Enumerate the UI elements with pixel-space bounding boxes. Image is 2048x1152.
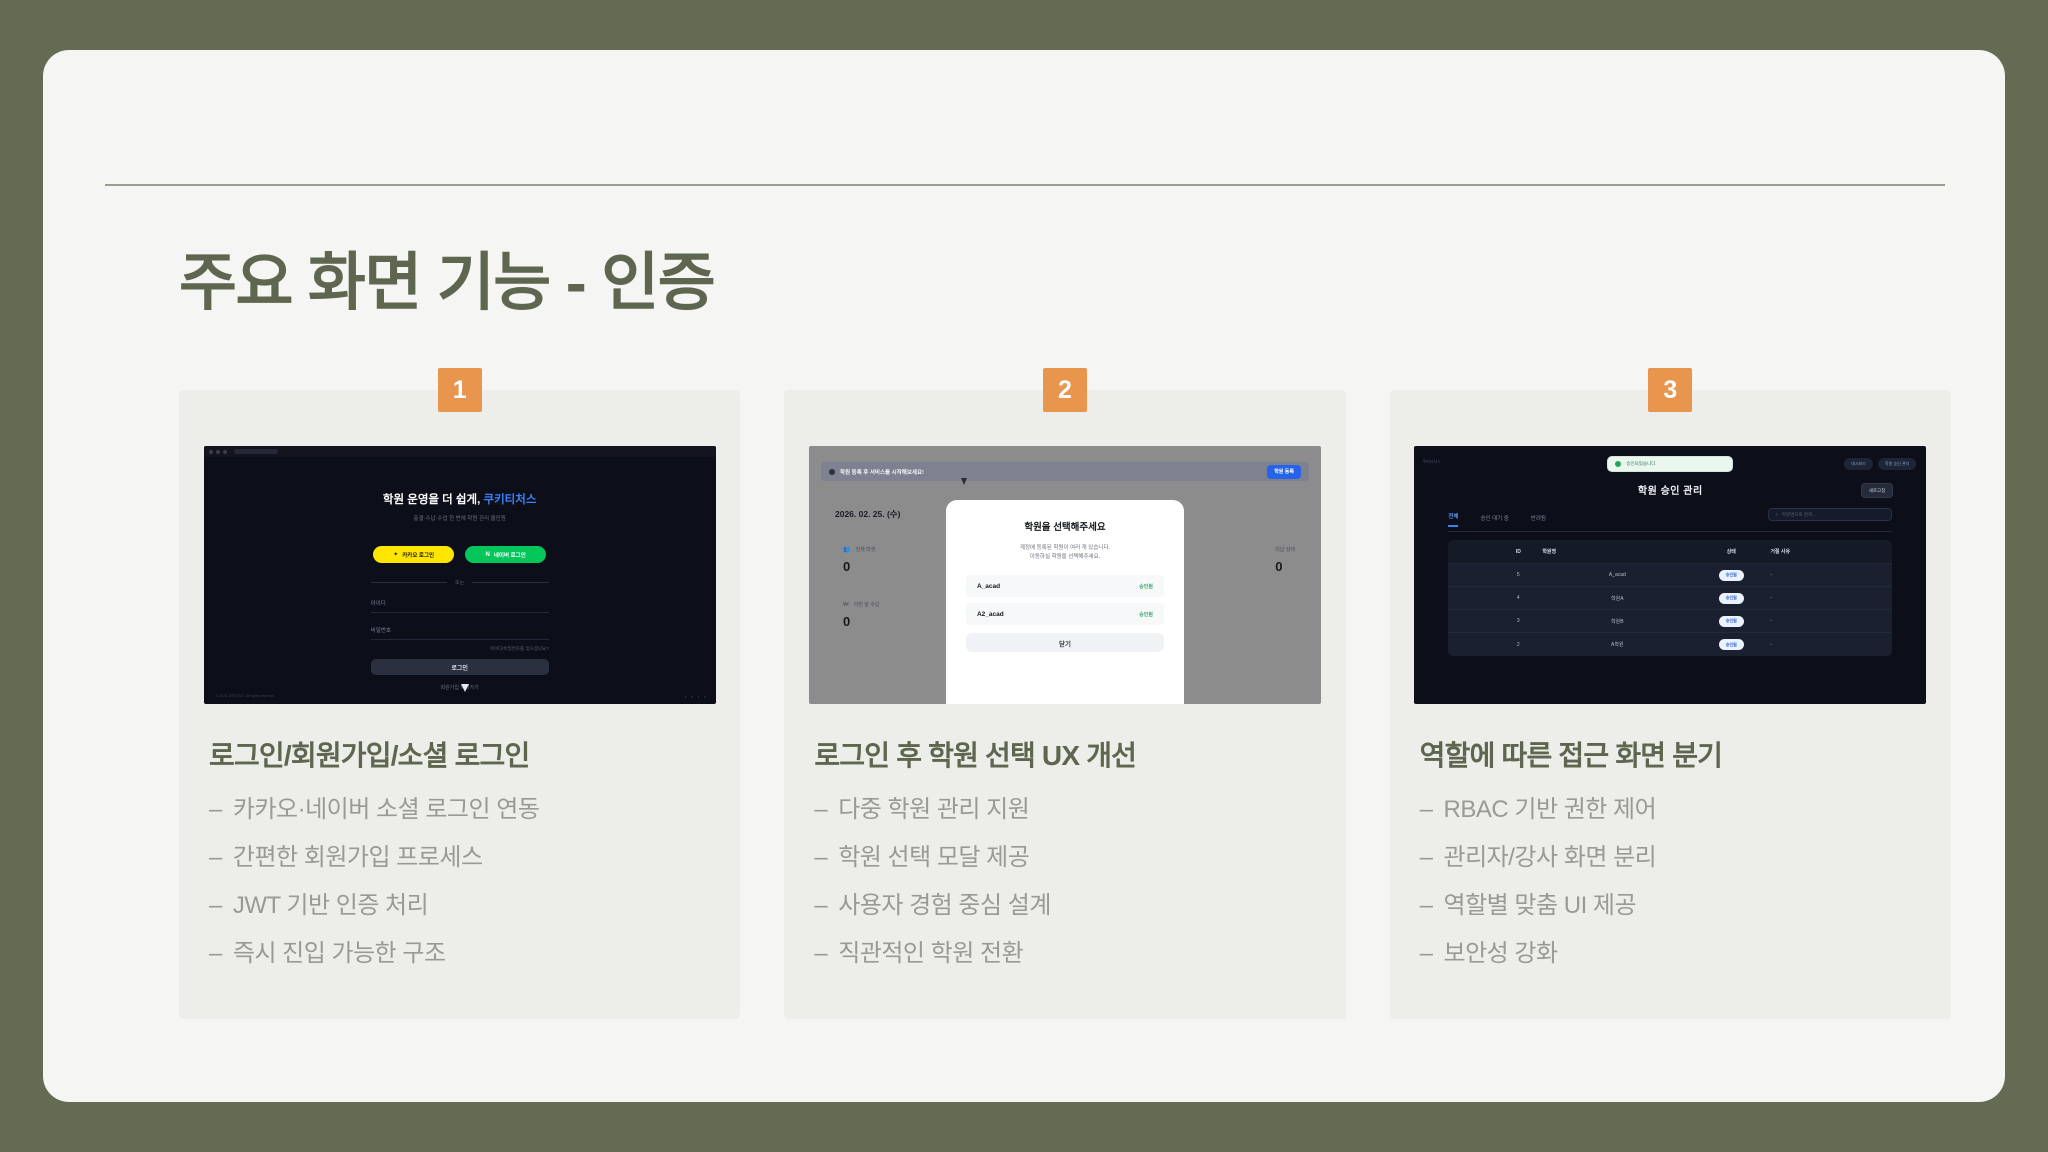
card-number-badge: 3 — [1648, 368, 1692, 412]
search-placeholder: 학원명으로 검색... — [1782, 512, 1816, 518]
column-header-id: ID — [1494, 549, 1542, 555]
screenshot-footer-icons: ▪ ▪ ▪ ▪ — [685, 694, 706, 699]
dash-icon: – — [1420, 937, 1433, 971]
naver-login-label: 네이버 로그인 — [494, 551, 526, 559]
list-item-label: 관리자/강사 화면 분리 — [1444, 841, 1657, 875]
card-title: 로그인/회원가입/소셜 로그인 — [209, 738, 710, 773]
cell-name: A학원 — [1542, 641, 1692, 648]
table-row[interactable]: 3 학원B 승인됨 - — [1448, 610, 1892, 633]
signup-link[interactable]: 회원가입 하러가기 — [441, 684, 479, 691]
login-heading: 학원 운영을 더 쉽게, 쿠키티처스 — [383, 491, 537, 507]
list-item-label: JWT 기반 인증 처리 — [233, 889, 428, 923]
register-academy-button[interactable]: 학원 등록 — [1267, 465, 1301, 479]
dashboard-date: 2026. 02. 25. (수) — [835, 508, 900, 520]
screenshot-footer: © 2026 쿠키티처스. All rights reserved. — [216, 694, 275, 699]
academy-name: A_acad — [977, 583, 1000, 590]
social-icon: ▪ — [698, 694, 699, 699]
find-password-link[interactable]: 아이디/비밀번호를 잊으셨나요? — [371, 646, 549, 652]
stat-label: 미납 상태 — [1275, 546, 1295, 553]
search-icon: ⌕ — [1775, 512, 1778, 517]
list-item: –사용자 경험 중심 설계 — [814, 889, 1315, 923]
table-row[interactable]: 4 학원A 승인됨 - — [1448, 587, 1892, 610]
stat-total-students: 👥 전체 학생 0 — [843, 546, 875, 574]
dash-icon: – — [1420, 793, 1433, 827]
register-academy-banner: 학원 등록 후 서비스를 시작해보세요! 학원 등록 — [821, 462, 1309, 481]
social-icon: ▪ — [704, 694, 705, 699]
modal-title: 학원을 선택해주세요 — [966, 519, 1164, 533]
list-item-label: 다중 학원 관리 지원 — [838, 793, 1029, 827]
stat-label: 이번 달 수납 — [854, 601, 880, 608]
address-bar — [234, 449, 278, 454]
brand-name: 쿠키티처스 — [484, 494, 537, 506]
top-nav: 대시보드 학원 승인 관리 — [1844, 458, 1916, 470]
page-title: 주요 화면 기능 - 인증 — [179, 232, 714, 323]
table-header-row: ID 학원명 상태 거절 사유 — [1448, 540, 1892, 564]
students-icon: 👥 — [843, 546, 850, 553]
cell-reason: - — [1770, 572, 1884, 578]
list-item-label: 학원 선택 모달 제공 — [838, 841, 1029, 875]
filter-tabs: 전체 승인 대기 중 반려됨 — [1448, 512, 1546, 527]
stat-value: 0 — [1275, 559, 1282, 574]
status-badge: 승인됨 — [1719, 570, 1744, 581]
kakao-icon: ✦ — [393, 552, 398, 558]
header-divider — [105, 184, 1945, 186]
stat-label-row: ₩ 이번 달 수납 — [843, 601, 879, 608]
modal-desc-line-2: 이동하실 학원을 선택해주세요. — [1030, 554, 1100, 560]
card-number-badge: 1 — [438, 368, 482, 412]
list-item: –학원 선택 모달 제공 — [814, 841, 1315, 875]
payment-icon: ₩ — [843, 602, 849, 608]
dash-icon: – — [209, 937, 222, 971]
academy-option[interactable]: A2_acad 승인됨 — [966, 603, 1164, 625]
cell-id: 2 — [1494, 642, 1542, 648]
mouse-cursor-icon — [461, 684, 469, 692]
status-badge: 승인됨 — [1719, 593, 1744, 604]
dash-icon: – — [209, 889, 222, 923]
dash-icon: – — [814, 889, 827, 923]
feature-card-row: 1 학원 운영을 더 쉽게, 쿠키티처스 출결·수납·수업 한 번에 학원 관리… — [179, 390, 1951, 1019]
card-bullet-list: –RBAC 기반 권한 제어 –관리자/강사 화면 분리 –역할별 맞춤 UI … — [1420, 793, 1921, 971]
list-item: –JWT 기반 인증 처리 — [209, 889, 710, 923]
cell-reason: - — [1770, 618, 1884, 624]
list-item: –관리자/강사 화면 분리 — [1420, 841, 1921, 875]
chrome-dot-icon — [209, 450, 213, 454]
login-heading-plain: 학원 운영을 더 쉽게, — [383, 494, 484, 506]
modal-description: 계정에 등록된 학원이 여러 개 있습니다. 이동하실 학원을 선택해주세요. — [966, 544, 1164, 562]
list-item: –카카오·네이버 소셜 로그인 연동 — [209, 793, 710, 827]
academy-status-badge: 승인됨 — [1139, 583, 1153, 590]
divider-label: 또는 — [455, 579, 464, 586]
list-item: –즉시 진입 가능한 구조 — [209, 937, 710, 971]
social-icon: ▪ — [691, 694, 692, 699]
status-badge: 승인됨 — [1719, 616, 1744, 627]
social-login-row: ✦ 카카오 로그인 N 네이버 로그인 — [373, 546, 546, 563]
cell-name: 학원A — [1542, 595, 1692, 602]
feature-card-2: 2 학원 등록 후 서비스를 시작해보세요! 학원 등록 2026. 02. 2… — [784, 390, 1345, 1019]
refresh-button[interactable]: 새로고침 — [1861, 483, 1894, 498]
stat-value: 0 — [843, 614, 879, 629]
admin-page-title: 학원 승인 관리 — [1638, 482, 1703, 497]
feature-card-3: 3 쿠키티처스 대시보드 학원 승인 관리 승인되었습니다. 학원 승인 관리 … — [1390, 390, 1951, 1019]
login-submit-button[interactable]: 로그인 — [371, 659, 549, 675]
list-item: –직관적인 학원 전환 — [814, 937, 1315, 971]
check-circle-icon — [1615, 461, 1621, 467]
social-icon: ▪ — [685, 694, 686, 699]
chrome-dot-icon — [223, 450, 227, 454]
list-item-label: 즉시 진입 가능한 구조 — [233, 937, 446, 971]
dash-icon: – — [1420, 841, 1433, 875]
card-title: 로그인 후 학원 선택 UX 개선 — [814, 738, 1315, 773]
cell-id: 4 — [1494, 595, 1542, 601]
info-icon — [829, 469, 835, 475]
cell-id: 3 — [1494, 618, 1542, 624]
list-item-label: 카카오·네이버 소셜 로그인 연동 — [233, 793, 540, 827]
table-row[interactable]: 2 A학원 승인됨 - — [1448, 633, 1892, 656]
academy-select-modal: 학원을 선택해주세요 계정에 등록된 학원이 여러 개 있습니다. 이동하실 학… — [946, 500, 1184, 704]
list-item: –RBAC 기반 권한 제어 — [1420, 793, 1921, 827]
screenshot-approval-admin: 쿠키티처스 대시보드 학원 승인 관리 승인되었습니다. 학원 승인 관리 새로… — [1414, 446, 1926, 704]
brand-label: 쿠키티처스 — [1422, 459, 1440, 465]
naver-login-button[interactable]: N 네이버 로그인 — [465, 546, 546, 563]
login-subheading: 출결·수납·수업 한 번에 학원 관리 올인원 — [414, 514, 506, 522]
dash-icon: – — [209, 841, 222, 875]
academy-option[interactable]: A_acad 승인됨 — [966, 575, 1164, 597]
cell-id: 5 — [1494, 572, 1542, 578]
search-input[interactable]: ⌕ 학원명으로 검색... — [1768, 508, 1892, 521]
dash-icon: – — [814, 793, 827, 827]
screenshot-login: 학원 운영을 더 쉽게, 쿠키티처스 출결·수납·수업 한 번에 학원 관리 올… — [204, 446, 716, 704]
stat-label-row: 미납 상태 — [1275, 546, 1295, 553]
card-bullet-list: –카카오·네이버 소셜 로그인 연동 –간편한 회원가입 프로세스 –JWT 기… — [209, 793, 710, 971]
list-item: –간편한 회원가입 프로세스 — [209, 841, 710, 875]
list-item-label: 보안성 강화 — [1444, 937, 1558, 971]
kakao-login-label: 카카오 로그인 — [402, 551, 434, 559]
password-field[interactable]: 비밀번호 — [371, 626, 549, 640]
column-header-status: 상태 — [1692, 548, 1770, 555]
cell-name: 학원B — [1542, 618, 1692, 625]
modal-desc-line-1: 계정에 등록된 학원이 여러 개 있습니다. — [1020, 545, 1110, 551]
tab-underline — [1448, 531, 1892, 532]
card-title: 역할에 따른 접근 화면 분기 — [1420, 738, 1921, 773]
list-item-label: 역할별 맞춤 UI 제공 — [1444, 889, 1637, 923]
screenshot-academy-picker: 학원 등록 후 서비스를 시작해보세요! 학원 등록 2026. 02. 25.… — [809, 446, 1321, 704]
academy-name: A2_acad — [977, 611, 1004, 618]
stat-unpaid-status: 미납 상태 0 — [1275, 546, 1295, 574]
browser-chrome — [204, 446, 716, 457]
chrome-dot-icon — [216, 450, 220, 454]
card-bullet-list: –다중 학원 관리 지원 –학원 선택 모달 제공 –사용자 경험 중심 설계 … — [814, 793, 1315, 971]
tab-pending[interactable]: 승인 대기 중 — [1480, 514, 1508, 527]
list-item: –보안성 강화 — [1420, 937, 1921, 971]
banner-message: 학원 등록 후 서비스를 시작해보세요! — [829, 468, 924, 476]
divider-line — [371, 582, 447, 583]
stat-value: 0 — [843, 559, 875, 574]
dash-icon: – — [209, 793, 222, 827]
status-badge: 승인됨 — [1719, 639, 1744, 650]
list-item-label: 직관적인 학원 전환 — [838, 937, 1023, 971]
tab-all[interactable]: 전체 — [1448, 512, 1458, 527]
slide-root: 주요 화면 기능 - 인증 1 학원 운영을 더 쉽게, 쿠키티처스 출결·수납… — [43, 50, 2005, 1102]
mouse-cursor-icon — [961, 478, 967, 485]
email-field[interactable]: 아이디 — [371, 599, 549, 613]
stat-label: 전체 학생 — [855, 546, 875, 553]
table-row[interactable]: 5 A_acad 승인됨 - — [1448, 564, 1892, 587]
card-number-badge: 2 — [1043, 368, 1087, 412]
cell-reason: - — [1770, 642, 1884, 648]
divider-line — [472, 582, 548, 583]
kakao-login-button[interactable]: ✦ 카카오 로그인 — [373, 546, 454, 563]
stat-monthly-payment: ₩ 이번 달 수납 0 — [843, 601, 879, 629]
login-body: 학원 운영을 더 쉽게, 쿠키티처스 출결·수납·수업 한 번에 학원 관리 올… — [204, 457, 716, 704]
list-item-label: 간편한 회원가입 프로세스 — [233, 841, 483, 875]
modal-close-button[interactable]: 닫기 — [966, 633, 1164, 652]
list-item-label: 사용자 경험 중심 설계 — [838, 889, 1051, 923]
dash-icon: – — [814, 841, 827, 875]
column-header-name: 학원명 — [1542, 548, 1692, 555]
dash-icon: – — [814, 937, 827, 971]
nav-chip-approval[interactable]: 학원 승인 관리 — [1878, 458, 1916, 470]
academy-option-list: A_acad 승인됨 A2_acad 승인됨 — [966, 575, 1164, 625]
list-item: –역할별 맞춤 UI 제공 — [1420, 889, 1921, 923]
tab-rejected[interactable]: 반려됨 — [1531, 514, 1546, 527]
list-item-label: RBAC 기반 권한 제어 — [1444, 793, 1657, 827]
list-item: –다중 학원 관리 지원 — [814, 793, 1315, 827]
divider-or: 또는 — [371, 579, 549, 586]
dash-icon: – — [1420, 889, 1433, 923]
column-header-reason: 거절 사유 — [1770, 548, 1884, 555]
academy-status-badge: 승인됨 — [1139, 611, 1153, 618]
feature-card-1: 1 학원 운영을 더 쉽게, 쿠키티처스 출결·수납·수업 한 번에 학원 관리… — [179, 390, 740, 1019]
nav-chip-dashboard[interactable]: 대시보드 — [1844, 458, 1873, 470]
cell-name: A_acad — [1542, 572, 1692, 578]
naver-icon: N — [486, 552, 490, 558]
success-toast: 승인되었습니다. — [1607, 456, 1733, 472]
toast-message: 승인되었습니다. — [1626, 461, 1656, 467]
stat-label-row: 👥 전체 학생 — [843, 546, 875, 553]
cell-reason: - — [1770, 595, 1884, 601]
banner-text: 학원 등록 후 서비스를 시작해보세요! — [840, 468, 924, 476]
approval-table: ID 학원명 상태 거절 사유 5 A_acad 승인됨 - 4 — [1448, 540, 1892, 656]
